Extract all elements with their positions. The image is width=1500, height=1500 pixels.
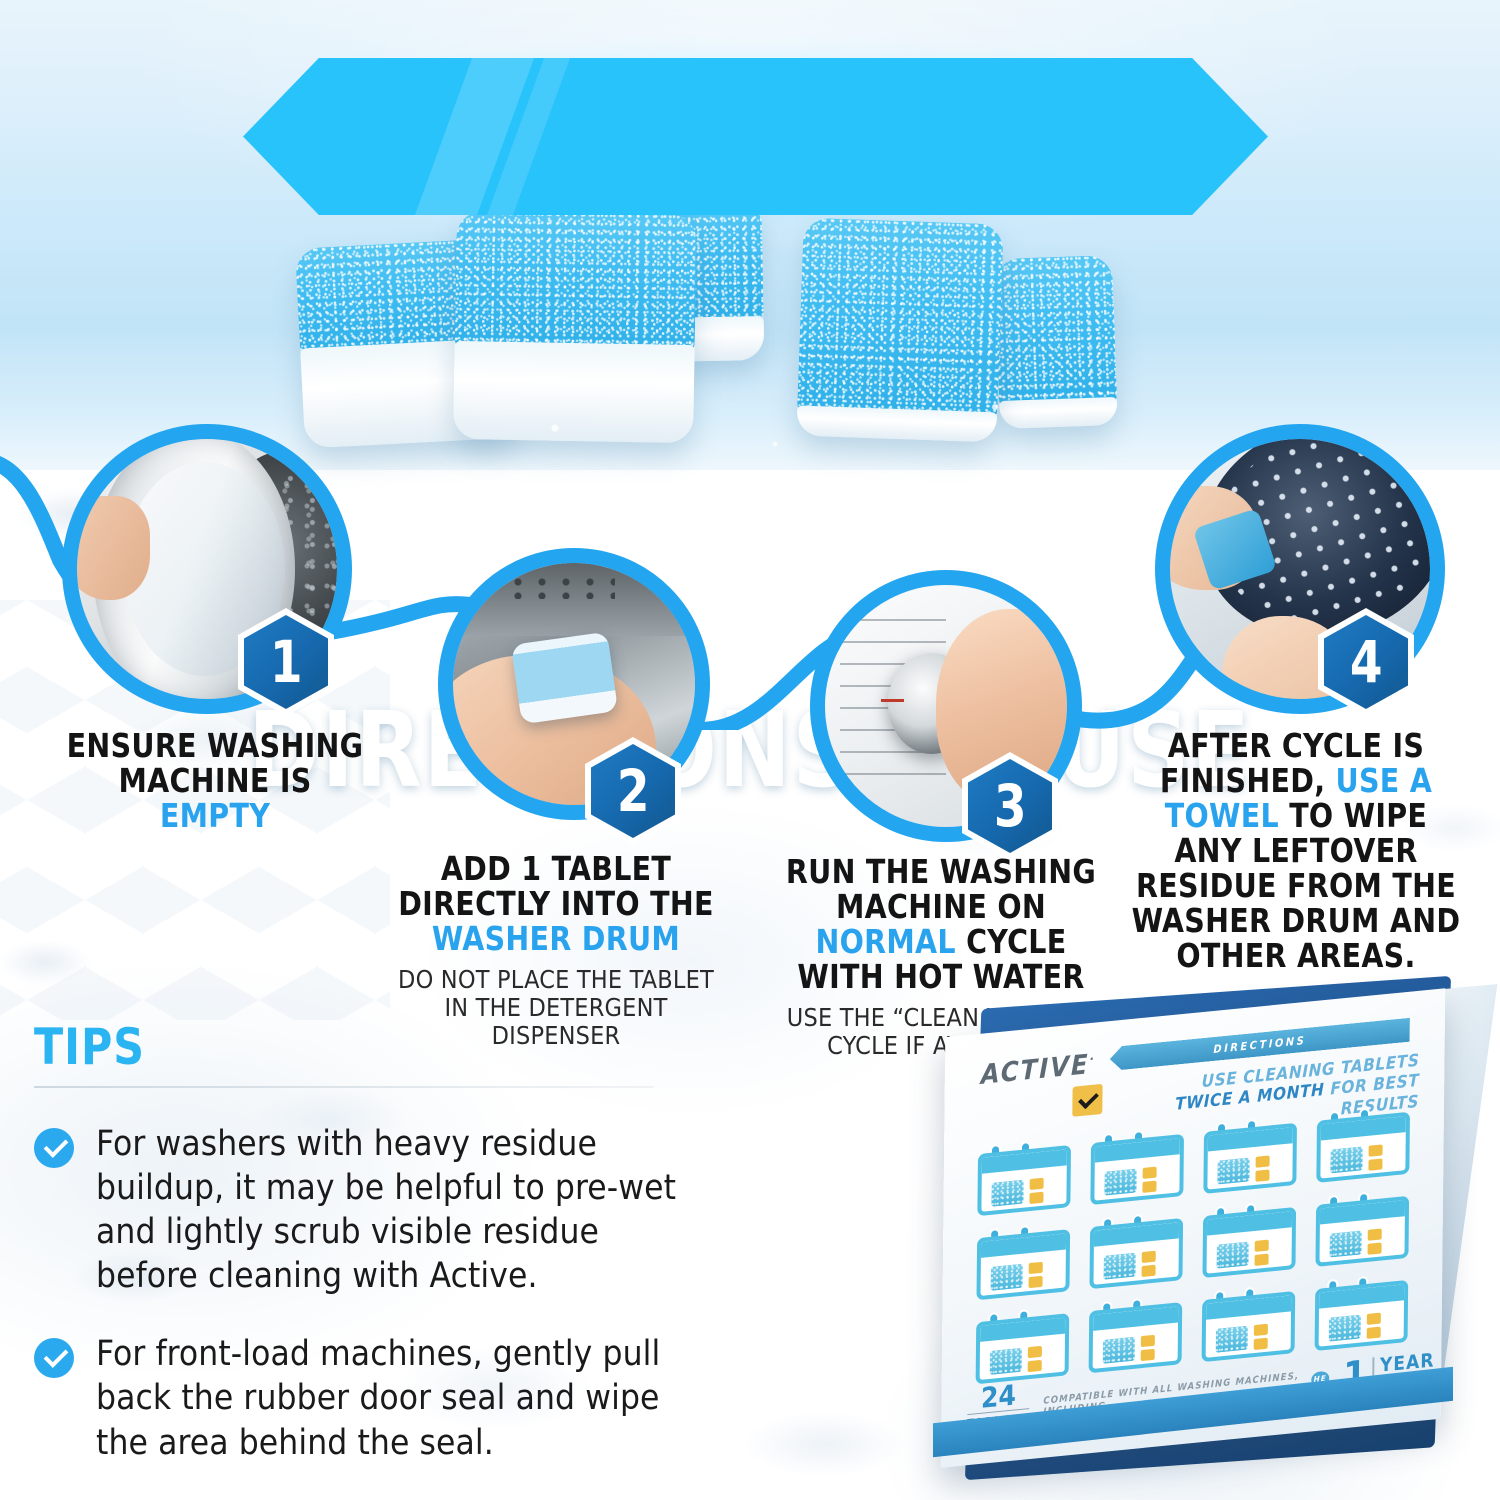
calendar-icon xyxy=(1311,1187,1413,1267)
tip-item-1: For washers with heavy residue buildup, … xyxy=(34,1122,714,1298)
infographic-canvas: DIRECTIONS TO USE 1 ENSURE WASHING MACHI… xyxy=(0,0,1500,1500)
step-2-caption: ADD 1 TABLET DIRECTLY INTO THE WASHER DR… xyxy=(386,852,726,1051)
tip-item-2: For front-load machines, gently pull bac… xyxy=(34,1332,714,1464)
check-icon xyxy=(34,1338,74,1378)
product-box-photo: ACTIVE· DIRECTIONS USE CLEANING TABLETS … xyxy=(905,985,1500,1500)
calendar-icon xyxy=(972,1305,1074,1385)
tip-2-text: For front-load machines, gently pull bac… xyxy=(96,1332,696,1464)
box-check-icon xyxy=(1072,1084,1102,1117)
calendar-icon xyxy=(972,1221,1074,1301)
step-4-caption: AFTER CYCLE IS FINISHED, USE A TOWEL TO … xyxy=(1122,729,1470,974)
calendar-icon xyxy=(1086,1125,1188,1205)
step-2-title: ADD 1 TABLET DIRECTLY INTO THE WASHER DR… xyxy=(393,852,719,957)
step-1-caption: ENSURE WASHING MACHINE IS EMPTY xyxy=(55,729,375,834)
box-directions-label: DIRECTIONS xyxy=(1213,1033,1306,1055)
step-1-title: ENSURE WASHING MACHINE IS EMPTY xyxy=(61,729,368,834)
box-calendar-grid xyxy=(972,1103,1414,1384)
tips-divider xyxy=(34,1086,654,1088)
calendar-icon xyxy=(973,1137,1075,1217)
step-3-number: 3 xyxy=(994,777,1027,835)
tips-heading: TIPS xyxy=(34,1022,680,1072)
calendar-icon xyxy=(1085,1210,1187,1290)
calendar-icon xyxy=(1198,1198,1300,1278)
step-4-title: AFTER CYCLE IS FINISHED, USE A TOWEL TO … xyxy=(1129,729,1463,974)
check-icon xyxy=(34,1128,74,1168)
calendar-icon xyxy=(1198,1283,1300,1363)
step-4-number: 4 xyxy=(1350,633,1383,691)
step-2-number: 2 xyxy=(617,762,650,820)
cleaning-tablets-photo xyxy=(255,195,1255,460)
box-brand-logo: ACTIVE· xyxy=(981,1049,1096,1091)
calendar-icon xyxy=(1199,1114,1301,1194)
tip-1-text: For washers with heavy residue buildup, … xyxy=(96,1122,696,1298)
water-droplets xyxy=(255,195,1255,460)
step-1-number: 1 xyxy=(270,633,303,691)
directions-banner xyxy=(243,58,1268,215)
calendar-icon xyxy=(1311,1271,1413,1351)
calendar-icon xyxy=(1312,1103,1414,1183)
calendar-icon xyxy=(1085,1294,1187,1374)
tips-section: TIPS For washers with heavy residue buil… xyxy=(34,1022,714,1465)
step-3-title: RUN THE WASHING MACHINE ON NORMAL CYCLE … xyxy=(785,855,1098,995)
